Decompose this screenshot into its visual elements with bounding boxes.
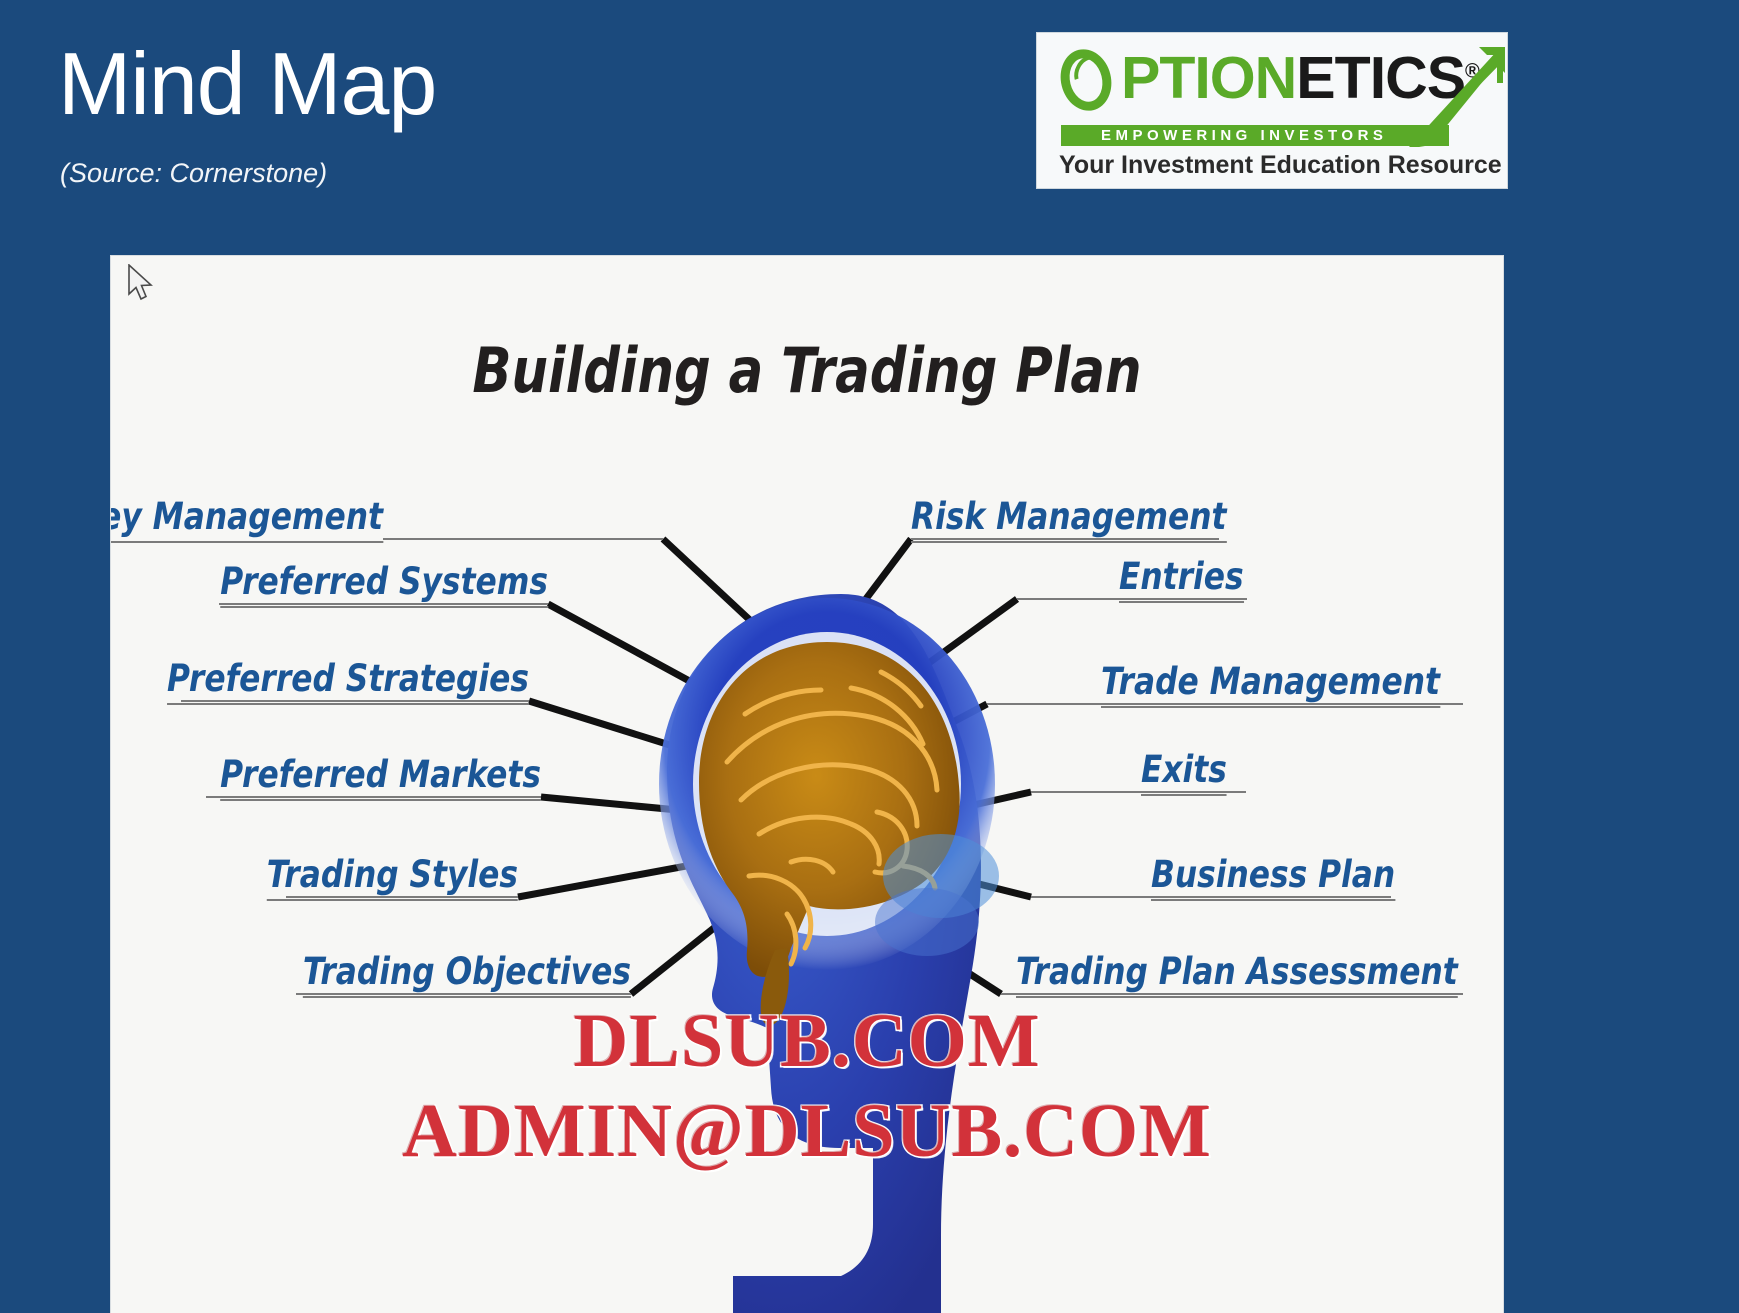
logo-leaf-o-icon xyxy=(1059,49,1121,119)
slide-canvas: Mind Map (Source: Cornerstone) PTIONETIC… xyxy=(0,0,1739,1313)
node-label-entries[interactable]: Entries xyxy=(1119,558,1244,603)
watermark-site: DLSUB.COM xyxy=(111,998,1503,1085)
node-label-preferred-strategies[interactable]: Preferred Strategies xyxy=(167,660,529,705)
slide-content-area: Building a Trading Plan xyxy=(110,255,1504,1313)
node-label-business-plan[interactable]: Business Plan xyxy=(1151,856,1395,901)
node-label-trading-plan-assessment[interactable]: Trading Plan Assessment xyxy=(1016,953,1458,998)
growth-arrow-icon xyxy=(1409,47,1505,147)
node-label-preferred-systems[interactable]: Preferred Systems xyxy=(220,563,548,608)
logo-tagline: EMPOWERING INVESTORS xyxy=(1101,127,1387,144)
node-label-money-management[interactable]: Money Management xyxy=(110,498,383,543)
node-label-trade-management[interactable]: Trade Management xyxy=(1101,663,1440,708)
node-label-risk-management[interactable]: Risk Management xyxy=(911,498,1226,543)
mouse-cursor-icon xyxy=(127,264,155,302)
watermark-email: ADMIN@DLSUB.COM xyxy=(111,1088,1503,1175)
logo-subtitle: Your Investment Education Resource xyxy=(1059,151,1502,180)
logo-text-green: PTION xyxy=(1121,45,1296,111)
slide-source-note: (Source: Cornerstone) xyxy=(60,158,327,189)
node-label-trading-styles[interactable]: Trading Styles xyxy=(267,856,518,901)
brain-head-profile-image xyxy=(641,576,1021,1313)
node-label-preferred-markets[interactable]: Preferred Markets xyxy=(220,756,541,801)
node-label-exits[interactable]: Exits xyxy=(1141,751,1227,796)
node-label-trading-objectives[interactable]: Trading Objectives xyxy=(303,953,631,998)
diagram-title: Building a Trading Plan xyxy=(167,334,1448,407)
page-title: Mind Map xyxy=(58,40,436,128)
optionetics-logo: PTIONETICS® EMPOWERING INVESTORS Your In… xyxy=(1036,32,1508,189)
